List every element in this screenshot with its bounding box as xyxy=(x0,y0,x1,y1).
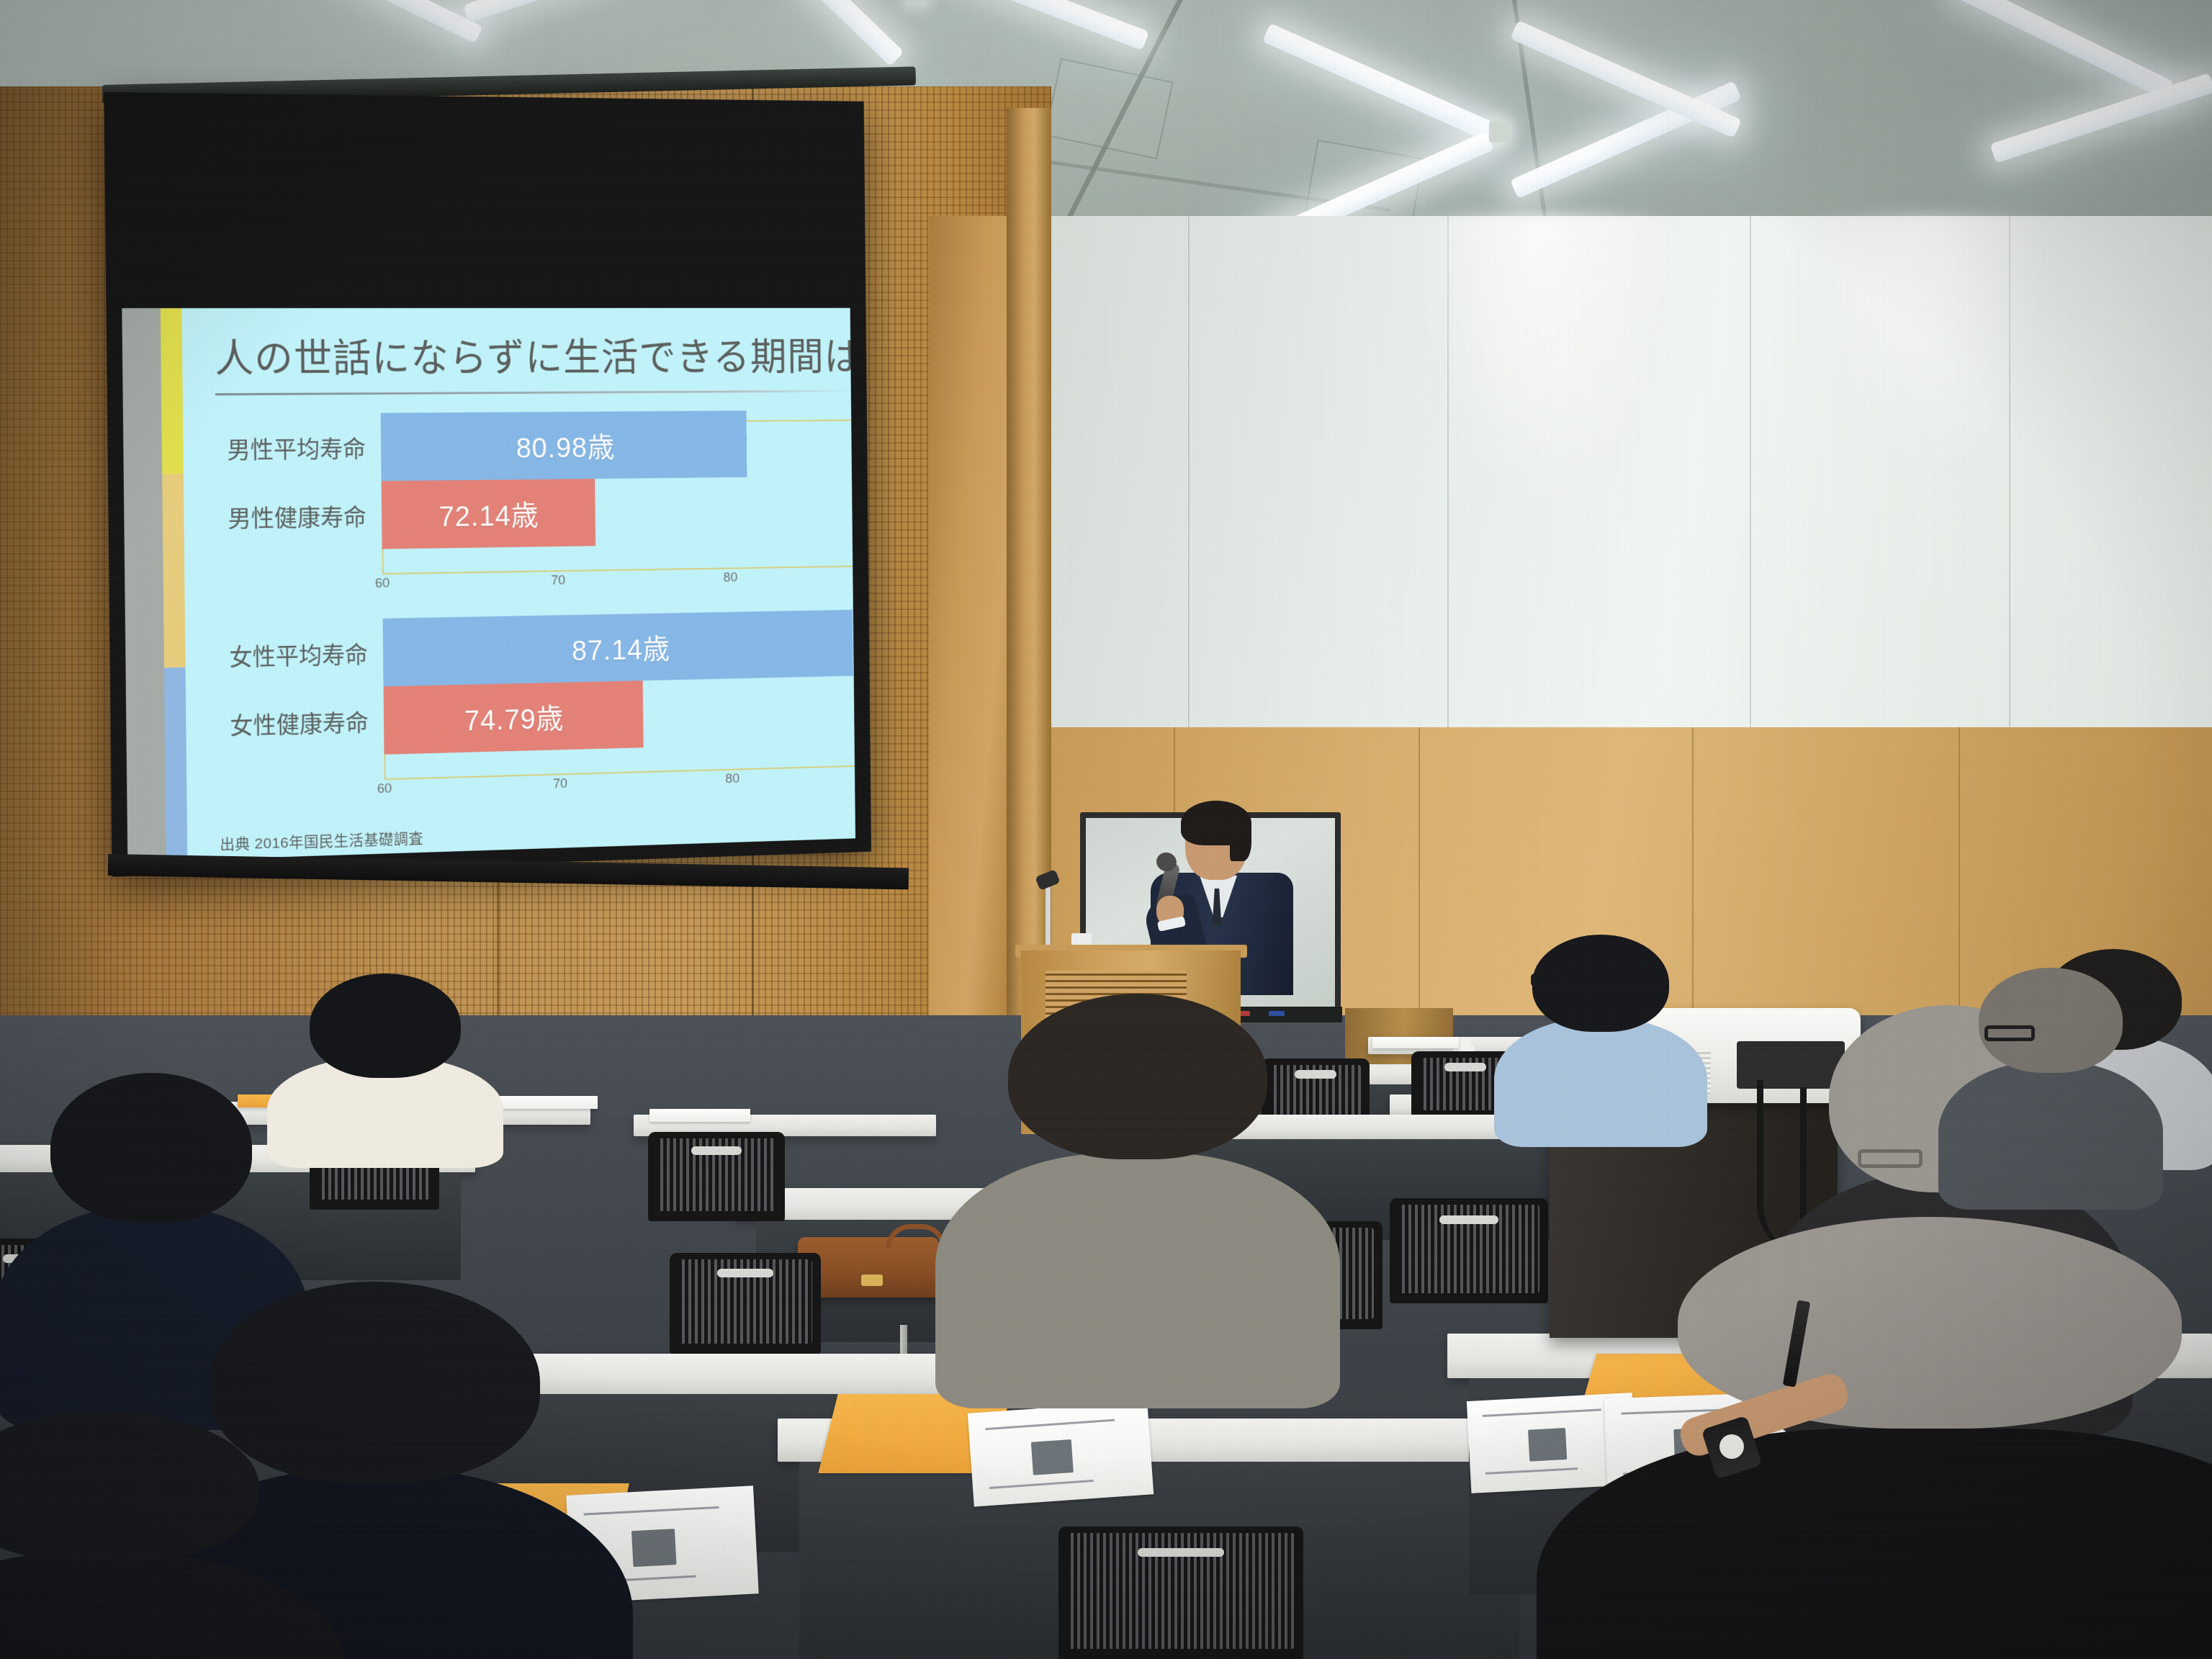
person-head xyxy=(310,974,461,1078)
ceiling-light-hub xyxy=(906,0,927,6)
stripe-segment-yellow xyxy=(161,308,184,474)
chair[interactable] xyxy=(1058,1527,1303,1659)
wall-corner-pilaster xyxy=(1007,108,1051,1051)
bar-male-healthy: 72.14歳 xyxy=(382,478,595,549)
bar-value-female-healthy: 74.79歳 xyxy=(464,696,564,739)
person-torso xyxy=(1494,1017,1707,1147)
projected-slide: 人の世話にならずに生活できる期間は？ 男性平均寿命 80.98歳 xyxy=(122,308,855,862)
eyeglasses-icon xyxy=(1531,974,1564,986)
stripe-segment-gold xyxy=(162,474,185,667)
slide-content: 人の世話にならずに生活できる期間は？ 男性平均寿命 80.98歳 xyxy=(181,308,855,860)
audience-member xyxy=(1532,935,1669,1115)
chart-row: 男性平均寿命 80.98歳 xyxy=(215,409,855,482)
title-divider xyxy=(215,390,855,395)
chart-row: 女性健康寿命 74.79歳 xyxy=(218,675,855,759)
bottle-cap xyxy=(1457,1038,1471,1048)
bar-label-female-avg: 女性平均寿命 xyxy=(217,635,383,673)
seminar-room-photo: 人の世話にならずに生活できる期間は？ 男性平均寿命 80.98歳 xyxy=(0,0,2212,1659)
bar-value-male-avg: 80.98歳 xyxy=(516,424,615,466)
bar-track: 74.79歳 xyxy=(384,675,855,755)
person-head xyxy=(50,1073,252,1223)
audience-member xyxy=(310,974,461,1154)
x-tick: 80 xyxy=(725,771,739,787)
bar-track: 87.14歳 xyxy=(383,608,855,686)
paper-handout xyxy=(968,1401,1154,1506)
person-torso xyxy=(935,1153,1340,1408)
eyeglasses-icon xyxy=(1858,1149,1923,1168)
bar-female-healthy: 74.79歳 xyxy=(384,680,644,755)
stripe-segment-blue xyxy=(164,667,187,860)
x-tick: 60 xyxy=(377,781,392,796)
wall-wood-panel xyxy=(929,216,1010,1022)
bar-label-male-avg: 男性平均寿命 xyxy=(215,430,381,465)
chart-female: 女性平均寿命 87.14歳 女性健康寿命 74.79歳 xyxy=(217,608,855,801)
ceiling-light-hub xyxy=(1489,121,1511,143)
person-head xyxy=(1008,994,1267,1159)
bar-track: 72.14歳 xyxy=(382,475,855,549)
wall-spotlight-glow xyxy=(1815,216,2052,490)
eyeglasses-icon xyxy=(1984,1025,2035,1041)
audience-member xyxy=(1979,968,2123,1169)
paper-handout xyxy=(649,1109,750,1122)
wristwatch-face xyxy=(1719,1434,1744,1459)
paper-handout xyxy=(497,1096,598,1109)
presenter-hair xyxy=(1230,814,1251,861)
x-tick: 70 xyxy=(553,776,567,792)
bar-label-male-healthy: 男性健康寿命 xyxy=(216,498,382,534)
x-tick: 70 xyxy=(551,572,565,588)
bar-label-female-healthy: 女性健康寿命 xyxy=(218,703,384,741)
audience-member xyxy=(1008,994,1267,1339)
person-torso xyxy=(1938,1061,2163,1210)
bar-male-avg: 80.98歳 xyxy=(381,410,747,481)
bar-value-male-healthy: 72.14歳 xyxy=(439,493,539,534)
chair[interactable] xyxy=(1390,1198,1548,1303)
briefcase-clasp xyxy=(861,1274,883,1286)
bar-track: 80.98歳 xyxy=(381,409,855,480)
bar-value-female-avg: 87.14歳 xyxy=(572,626,670,668)
person-head xyxy=(0,1411,259,1563)
wall-spotlight-glow xyxy=(1411,215,1671,517)
audience-member xyxy=(0,1411,259,1659)
ceiling-access-panel xyxy=(1044,58,1173,160)
x-tick: 60 xyxy=(375,575,390,591)
x-axis-male: 60 70 80 90 xyxy=(382,567,855,594)
slide-grey-band xyxy=(122,308,166,862)
podium-microphone-stand xyxy=(1046,884,1051,952)
projection-screen: 人の世話にならずに生活できる期間は？ 男性平均寿命 80.98歳 xyxy=(104,92,871,877)
paper-handout xyxy=(1372,1037,1459,1048)
bar-female-avg: 87.14歳 xyxy=(383,609,853,686)
person-head xyxy=(1979,968,2123,1073)
slide-title: 人の世話にならずに生活できる期間は？ xyxy=(215,336,855,380)
chart-male: 男性平均寿命 80.98歳 男性健康寿命 72.14歳 xyxy=(215,409,855,594)
chair[interactable] xyxy=(670,1253,821,1354)
x-tick: 80 xyxy=(724,570,738,585)
slide-source-note: 出典 2016年国民生活基礎調査 xyxy=(220,827,423,855)
x-axis-female: 60 70 80 90 xyxy=(385,766,855,799)
chair[interactable] xyxy=(648,1132,785,1221)
chart-row: 男性健康寿命 72.14歳 xyxy=(216,475,855,551)
